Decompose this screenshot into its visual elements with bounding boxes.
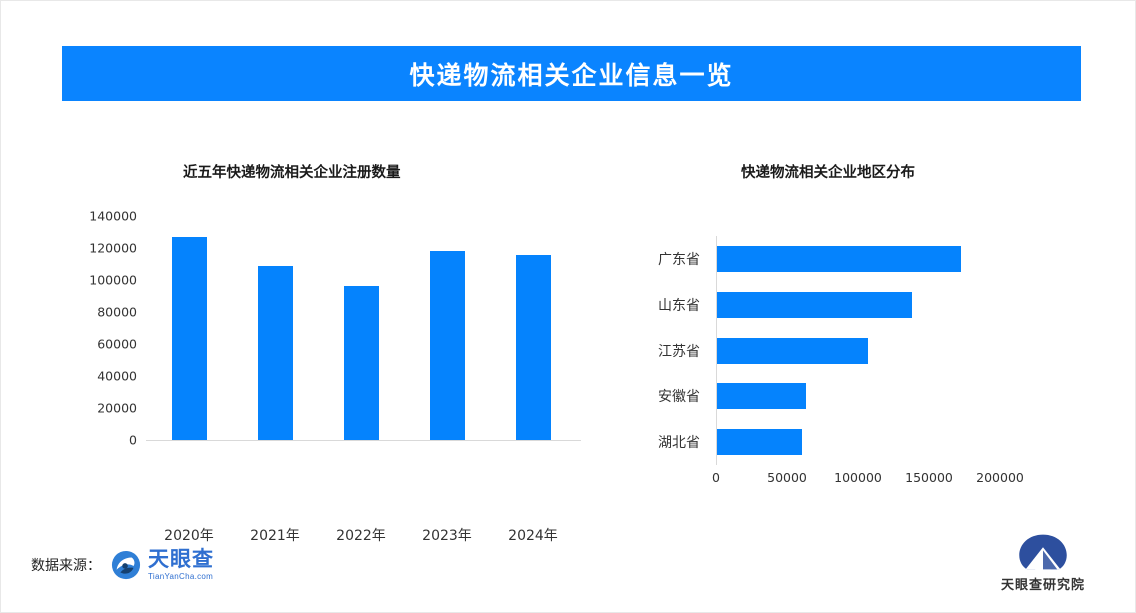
right-chart-bar [717,338,868,364]
footer-institute: 天眼查研究院 [1001,533,1085,593]
left-chart-y-tick-label: 60000 [97,337,146,352]
left-chart-bar [516,255,551,440]
right-chart-category-label: 江苏省 [658,341,716,361]
left-chart-plot-area: 0200004000060000800001000001200001400002… [146,216,576,440]
left-chart-y-tick-label: 100000 [89,273,146,288]
footer-source: 数据来源： 天眼查 TianYanCha.com [31,549,214,581]
chart-title-regional: 快递物流相关企业地区分布 [741,161,915,182]
right-chart-x-tick-label: 150000 [905,470,953,485]
right-chart-bar [717,383,806,409]
left-chart-x-tick-label: 2023年 [422,525,472,545]
left-chart-y-tick-label: 140000 [89,209,146,224]
right-chart-category-label: 湖北省 [658,432,716,452]
left-chart-bar [430,251,465,440]
left-chart-bar [258,266,293,440]
right-chart-category-label: 山东省 [658,295,716,315]
right-chart-bar [717,292,912,318]
institute-name: 天眼查研究院 [1001,574,1085,593]
right-chart-x-tick-label: 50000 [767,470,807,485]
header-banner: 快递物流相关企业信息一览 [62,46,1081,101]
tianyancha-eye-icon [111,550,141,580]
left-chart-x-axis-line [146,440,581,441]
tianyancha-wordmark: 天眼查 TianYanCha.com [148,549,214,581]
left-chart-x-tick-label: 2020年 [164,525,214,545]
tianyancha-name-en: TianYanCha.com [148,573,214,581]
left-chart-y-tick-label: 0 [129,433,146,448]
left-chart-y-tick-label: 80000 [97,305,146,320]
left-chart-y-tick-label: 40000 [97,369,146,384]
right-chart-plot-area: 广东省山东省江苏省安徽省湖北省050000100000150000200000 [716,236,1006,465]
right-chart-bar [717,246,961,272]
institute-mountain-icon [1017,533,1069,571]
tianyancha-logo: 天眼查 TianYanCha.com [111,549,214,581]
chart-title-registrations: 近五年快递物流相关企业注册数量 [183,161,401,182]
right-chart-bar [717,429,802,455]
page-title: 快递物流相关企业信息一览 [409,56,733,92]
infographic-page: 快递物流相关企业信息一览 近五年快递物流相关企业注册数量 02000040000… [0,0,1136,613]
tianyancha-name-cn: 天眼查 [148,549,214,570]
right-chart-x-tick-label: 100000 [834,470,882,485]
left-chart-y-tick-label: 120000 [89,241,146,256]
left-chart-bar [344,286,379,440]
left-chart-x-tick-label: 2021年 [250,525,300,545]
right-chart-x-tick-label: 200000 [976,470,1024,485]
left-chart-y-tick-label: 20000 [97,401,146,416]
chart-panel-registrations: 近五年快递物流相关企业注册数量 020000400006000080000100… [61,141,581,501]
left-chart-bar [172,237,207,440]
right-chart-category-label: 安徽省 [658,386,716,406]
chart-panel-regional: 快递物流相关企业地区分布 广东省山东省江苏省安徽省湖北省050000100000… [611,141,1081,501]
left-chart-x-tick-label: 2024年 [508,525,558,545]
right-chart-category-label: 广东省 [658,249,716,269]
left-chart-x-tick-label: 2022年 [336,525,386,545]
source-label: 数据来源： [31,555,101,575]
right-chart-x-tick-label: 0 [712,470,720,485]
